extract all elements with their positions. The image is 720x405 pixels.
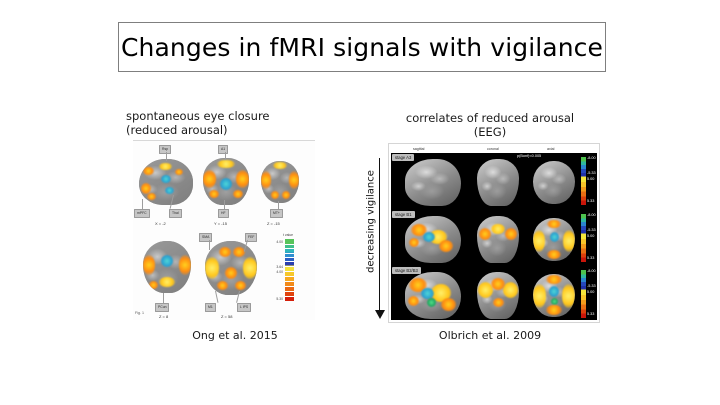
mri-tissue: [477, 272, 519, 319]
region-label-l-ips: L IPS: [237, 303, 251, 312]
slide-title-box: Changes in fMRI signals with vigilance: [118, 22, 606, 72]
activation-overlay: [205, 241, 257, 295]
right-figure-olbrich-2009: sagittal coronal axial stage A3 p(Bonf)<…: [388, 143, 600, 323]
leader-line-mpfc: [142, 199, 143, 209]
slice-label-y-minus-15: Y = -15: [214, 221, 227, 226]
column-header-coronal: coronal: [487, 147, 499, 151]
colorbar-tick-b1-pos5: 5.00: [587, 234, 594, 238]
column-header-axial: axial: [547, 147, 554, 151]
significance-label: p(Bonf)<0.005: [517, 154, 541, 158]
colorbar-tick-a3-neg5: -5.33: [587, 171, 596, 175]
region-label-a1: A1: [218, 145, 228, 154]
left-heading-line-2: (reduced arousal): [126, 124, 326, 138]
region-label-hf: HF: [218, 209, 229, 218]
leader-line-sma: [209, 240, 210, 250]
colorbar-tick-b1-pos533: 5.33: [587, 256, 594, 260]
colorbar-tick-b2b3-neg8: -8.00: [587, 269, 596, 273]
left-heading-line-1: spontaneous eye closure: [126, 110, 326, 124]
colorbar-tick-b2b3-pos533: 5.33: [587, 312, 594, 316]
left-figure-ong-2015: Rsp mPFC Thal X = -2 A1 HF Y = -15: [133, 140, 315, 320]
activation-overlay: [203, 158, 249, 205]
left-colorbar-tick-top: 4.00: [269, 240, 283, 244]
citation-olbrich-2009: Olbrich et al. 2009: [420, 329, 560, 342]
right-figure-row-stage-b1: stage B1: [391, 210, 597, 266]
figure-caption: Fig. 1: [135, 311, 144, 315]
mri-sagittal-b2b3: [405, 272, 461, 319]
mri-tissue: [405, 159, 461, 206]
decreasing-vigilance-arrow: decreasing vigilance: [352, 158, 386, 323]
brain-slice-axial-z-8: [143, 241, 191, 293]
left-colorbar-tick-pos: 4.00: [269, 270, 283, 274]
row-colorbar-b2b3: [581, 270, 586, 318]
brain-slice-sagittal-x-minus-2: [139, 159, 193, 205]
mri-tissue: [477, 216, 519, 263]
right-figure-row-stage-b2-b3: stage B2/B3: [391, 266, 597, 320]
left-colorbar-tick-bottom: 5.30: [269, 297, 283, 301]
brain-slice-axial-z-minus-15: [261, 161, 299, 203]
leader-line-pcun: [163, 293, 164, 303]
left-colorbar-tick-neg: 3.64: [269, 265, 283, 269]
colorbar-tick-b2b3-neg5: -5.33: [587, 284, 596, 288]
right-figure-canvas: sagittal coronal axial stage A3 p(Bonf)<…: [391, 146, 597, 320]
slice-label-z-8: Z = 8: [159, 314, 168, 319]
left-colorbar-title: t value: [283, 233, 293, 237]
mri-tissue: [405, 272, 461, 319]
brain-slice-coronal-y-minus-15: [203, 158, 249, 205]
left-panel-heading: spontaneous eye closure (reduced arousal…: [126, 110, 326, 137]
slice-label-z-minus-15: Z = -15: [267, 221, 280, 226]
region-label-pcun: PCun: [155, 303, 169, 312]
leader-line-a1: [225, 152, 226, 160]
activation-overlay: [143, 241, 191, 293]
leader-line-hf: [224, 200, 225, 209]
right-figure-row-stage-a3: stage A3 p(Bonf)<0.005 -8.00 -5.33 5.00 …: [391, 153, 597, 209]
mri-tissue: [533, 161, 575, 204]
brain-slice-axial-z-58: [205, 241, 257, 295]
mri-axial-b1: [533, 218, 575, 261]
mri-coronal-a3: [477, 159, 519, 206]
page-title: Changes in fMRI signals with vigilance: [121, 33, 603, 62]
activation-overlay: [261, 161, 299, 203]
column-header-sagittal: sagittal: [413, 147, 424, 151]
stage-label-b1: stage B1: [392, 211, 415, 218]
mri-coronal-b1: [477, 216, 519, 263]
colorbar-tick-b1-neg8: -8.00: [587, 213, 596, 217]
region-label-mt-plus: MT+: [270, 209, 283, 218]
activation-overlay: [139, 159, 193, 205]
slice-label-z-58: Z = 58: [221, 314, 232, 319]
colorbar-tick-a3-neg8: -8.00: [587, 156, 596, 160]
colorbar-tick-b1-neg5: -5.33: [587, 228, 596, 232]
left-colorbar: [285, 239, 294, 301]
mri-tissue: [405, 216, 461, 263]
left-figure-row-1: Rsp mPFC Thal X = -2 A1 HF Y = -15: [133, 143, 315, 231]
stage-label-a3: stage A3: [392, 154, 414, 161]
row-colorbar-b1: [581, 214, 586, 262]
leader-line-rsp: [166, 152, 167, 161]
vigilance-arrow-label: decreasing vigilance: [366, 162, 377, 282]
colorbar-tick-a3-pos533: 5.33: [587, 199, 594, 203]
region-label-mpfc: mPFC: [134, 209, 150, 218]
mri-axial-b2b3: [533, 274, 575, 317]
colorbar-tick-b2b3-pos5: 5.00: [587, 290, 594, 294]
mri-sagittal-a3: [405, 159, 461, 206]
right-heading-line-2: (EEG): [383, 126, 597, 140]
mri-tissue: [477, 159, 519, 206]
leader-line-mt: [278, 201, 279, 209]
right-panel-heading: correlates of reduced arousal (EEG): [383, 112, 597, 139]
right-heading-line-1: correlates of reduced arousal: [383, 112, 597, 126]
mri-tissue: [533, 274, 575, 317]
arrow-head-down-icon: [375, 310, 385, 319]
mri-coronal-b2b3: [477, 272, 519, 319]
region-label-m1: M1: [205, 303, 216, 312]
citation-ong-2015: Ong et al. 2015: [150, 329, 320, 342]
mri-tissue: [533, 218, 575, 261]
slice-label-x-minus-2: X = -2: [155, 221, 166, 226]
mri-axial-a3: [533, 161, 575, 204]
colorbar-tick-a3-pos5: 5.00: [587, 177, 594, 181]
mri-sagittal-b1: [405, 216, 461, 263]
arrow-shaft: [379, 158, 380, 314]
region-label-thal: Thal: [169, 209, 182, 218]
region-label-sma: SMA: [199, 233, 212, 242]
row-colorbar-a3: [581, 157, 586, 205]
stage-label-b2-b3: stage B2/B3: [392, 267, 421, 274]
